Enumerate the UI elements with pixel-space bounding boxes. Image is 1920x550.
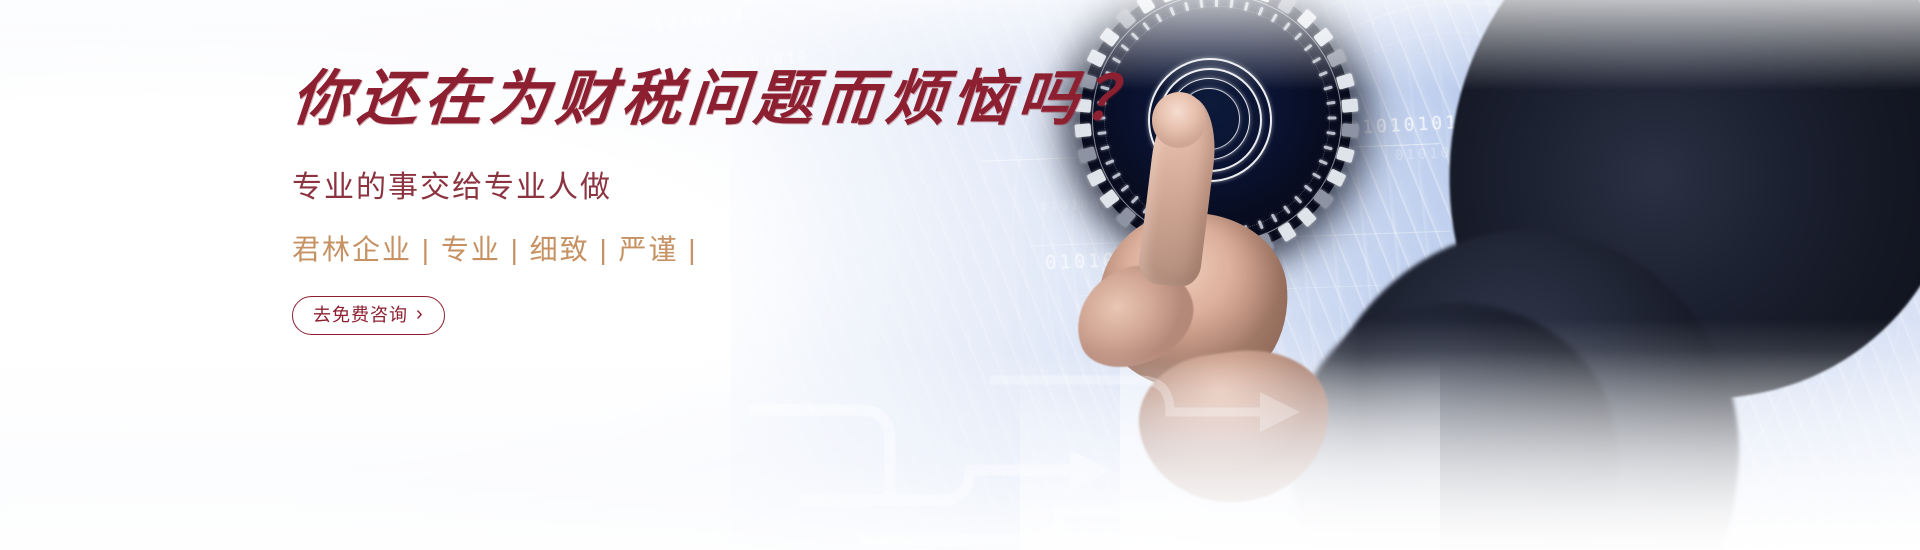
background-bottom-fade — [0, 350, 1920, 550]
banner-subtitle: 专业的事交给专业人做 — [292, 162, 1052, 206]
hero-banner: 010100101 01010010 0101001010 1010010100… — [0, 0, 1920, 550]
dial-tick — [1078, 146, 1097, 163]
dial-tick-minor — [1100, 145, 1109, 150]
dial-tick-minor — [1303, 184, 1312, 192]
dial-tick-minor — [1327, 117, 1336, 120]
dial-tick-minor — [1318, 159, 1327, 165]
free-consultation-button[interactable]: 去免费咨询 › — [292, 296, 445, 335]
dial-tick-minor — [1130, 195, 1138, 203]
dial-tick-minor — [1105, 159, 1114, 165]
dial-tick-minor — [1311, 172, 1320, 179]
dial-tick-minor — [1323, 145, 1332, 150]
dial-tick-minor — [1282, 205, 1290, 214]
cta-label: 去免费咨询 — [313, 306, 408, 324]
dial-tick-minor — [1293, 195, 1301, 203]
dial-tick — [1335, 146, 1354, 163]
chevron-right-icon: › — [416, 304, 424, 324]
banner-content: 你还在为财税问题而烦恼吗？ 专业的事交给专业人做 君林企业 | 专业 | 细致 … — [292, 66, 1052, 335]
banner-headline: 你还在为财税问题而烦恼吗？ — [289, 66, 1055, 132]
dial-tick-minor — [1270, 213, 1277, 222]
dial-tick-minor — [1326, 131, 1335, 135]
dial-tick-minor — [1120, 184, 1129, 192]
dial-tick-minor — [1326, 101, 1335, 105]
dial-tick-minor — [1257, 220, 1263, 229]
dial-tick — [1341, 123, 1358, 137]
dial-tick-minor — [1111, 172, 1120, 179]
dial-tick — [1341, 98, 1358, 112]
banner-tagline: 君林企业 | 专业 | 细致 | 严谨 | — [292, 228, 1052, 268]
